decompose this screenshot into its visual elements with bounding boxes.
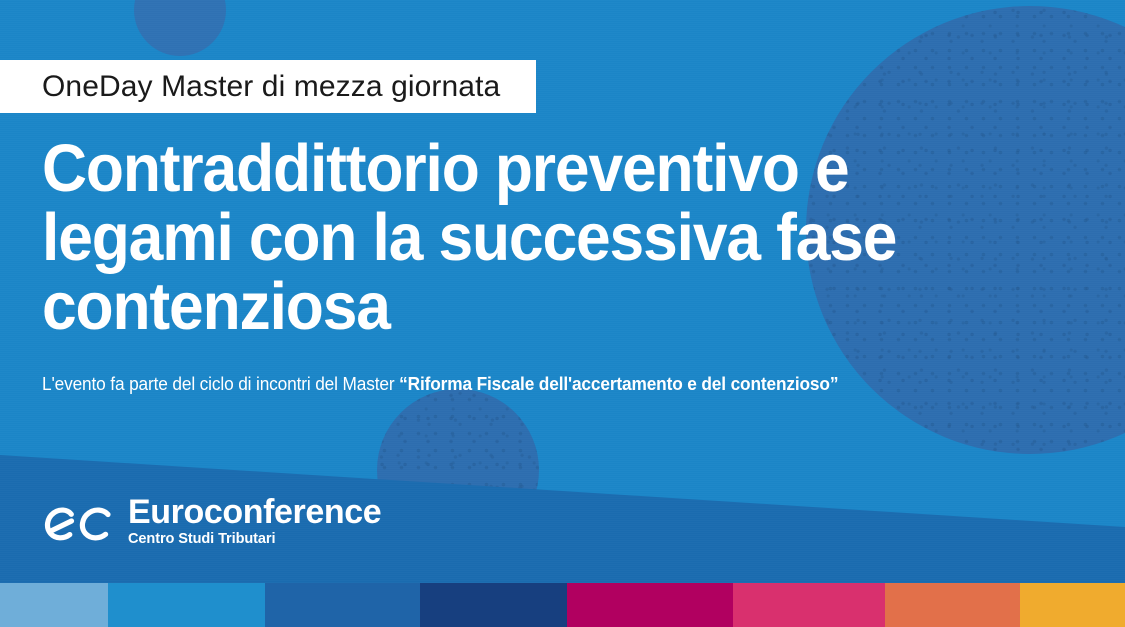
logo-tagline: Centro Studi Tributari	[128, 530, 374, 547]
logo-name: Euroconference	[128, 494, 381, 530]
headline-line-1: Contraddittorio preventivo e	[42, 134, 981, 203]
subtitle-quote-open: “	[399, 374, 408, 394]
color-stripe-medium-blue	[265, 583, 420, 627]
color-stripe-amber	[1020, 583, 1125, 627]
color-stripe-light-blue	[0, 583, 108, 627]
headline-line-3: contenziosa	[42, 272, 981, 341]
page-title: Contraddittorio preventivo e legami con …	[42, 134, 1052, 341]
headline-line-2: legami con la successiva fase	[42, 203, 981, 272]
ec-monogram-icon	[42, 498, 116, 548]
eyebrow-text: OneDay Master di mezza giornata	[42, 72, 500, 102]
subtitle-prefix: L'evento fa parte del ciclo di incontri …	[42, 374, 399, 394]
color-stripe-bar	[0, 583, 1125, 627]
color-stripe-magenta	[567, 583, 733, 627]
subtitle: L'evento fa parte del ciclo di incontri …	[42, 373, 838, 395]
subtitle-quote-close: ”	[830, 374, 839, 394]
logo-wordmark: Euroconference Centro Studi Tributari	[128, 494, 381, 547]
decorative-circle-top	[134, 0, 226, 56]
eyebrow-label: OneDay Master di mezza giornata	[0, 60, 536, 113]
color-stripe-navy	[420, 583, 567, 627]
color-stripe-pink	[733, 583, 885, 627]
subtitle-emphasis: Riforma Fiscale dell'accertamento e del …	[408, 374, 830, 394]
event-promo-banner: OneDay Master di mezza giornata Contradd…	[0, 0, 1125, 627]
euroconference-logo: Euroconference Centro Studi Tributari	[42, 494, 381, 548]
color-stripe-blue	[108, 583, 265, 627]
color-stripe-orange	[885, 583, 1020, 627]
